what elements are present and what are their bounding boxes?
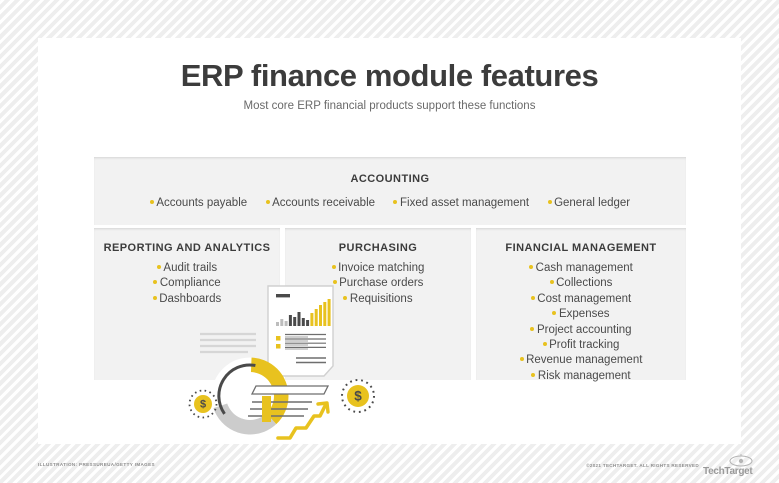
page-title: ERP finance module features: [38, 58, 741, 94]
page-subtitle: Most core ERP financial products support…: [38, 100, 741, 112]
bullet-icon: [530, 327, 534, 331]
coin-icon-right: $: [342, 380, 374, 412]
list-item-label: Accounts receivable: [272, 197, 375, 209]
ledger-lines: [248, 386, 328, 422]
bullet-icon: [266, 200, 270, 204]
list-item: Revenue management: [476, 353, 686, 368]
list-item-label: Profit tracking: [549, 339, 619, 351]
list-item: Accounts receivable: [266, 196, 375, 211]
techtarget-logo: TechTarget: [703, 455, 759, 477]
list-item: Accounts payable: [150, 196, 247, 211]
section-accounting-list: Accounts payable Accounts receivable Fix…: [94, 193, 686, 211]
section-purchasing-list: Invoice matching Purchase orders Requisi…: [285, 261, 471, 307]
bullet-icon: [153, 280, 157, 284]
bullet-icon: [543, 342, 547, 346]
copyright-notice: ©2021 TECHTARGET. ALL RIGHTS RESERVED: [586, 463, 699, 468]
coin-symbol: $: [354, 388, 362, 403]
list-item: Compliance: [94, 276, 280, 291]
list-item: Audit trails: [94, 261, 280, 276]
bullet-icon: [333, 280, 337, 284]
list-item-label: General ledger: [554, 197, 630, 209]
bullet-icon: [150, 200, 154, 204]
list-item-label: Collections: [556, 277, 612, 289]
list-item-label: Project accounting: [537, 324, 632, 336]
bullet-icon: [332, 265, 336, 269]
section-reporting-and-analytics: REPORTING AND ANALYTICS Audit trails Com…: [94, 228, 280, 380]
section-financial-management: FINANCIAL MANAGEMENT Cash management Col…: [476, 228, 686, 380]
section-accounting-title: ACCOUNTING: [94, 173, 686, 185]
section-financial-list: Cash management Collections Cost managem…: [476, 261, 686, 384]
list-item: Risk management: [476, 369, 686, 384]
list-item-label: Cost management: [537, 293, 631, 305]
list-item: Project accounting: [476, 323, 686, 338]
list-item: Collections: [476, 276, 686, 291]
bullet-icon: [157, 265, 161, 269]
bullet-icon: [531, 296, 535, 300]
growth-arrow-icon: [278, 403, 328, 438]
list-item-label: Revenue management: [526, 354, 642, 366]
bullet-icon: [343, 296, 347, 300]
list-item: Cost management: [476, 292, 686, 307]
section-accounting: ACCOUNTING Accounts payable Accounts rec…: [94, 157, 686, 225]
list-item: Expenses: [476, 307, 686, 322]
list-item-label: Fixed asset management: [400, 197, 529, 209]
list-item: Requisitions: [285, 292, 471, 307]
section-financial-title: FINANCIAL MANAGEMENT: [476, 242, 686, 254]
content-card: ERP finance module features Most core ER…: [38, 38, 741, 444]
illustration-credit: ILLUSTRATION: PRESSUREUA/GETTY IMAGES: [38, 462, 155, 467]
list-item-label: Risk management: [538, 370, 631, 382]
techtarget-wordmark: TechTarget: [703, 466, 752, 477]
list-item: Purchase orders: [285, 276, 471, 291]
bullet-icon: [552, 311, 556, 315]
list-item-label: Invoice matching: [338, 262, 424, 274]
list-item-label: Cash management: [536, 262, 633, 274]
list-item: Cash management: [476, 261, 686, 276]
section-purchasing: PURCHASING Invoice matching Purchase ord…: [285, 228, 471, 380]
list-item-label: Audit trails: [163, 262, 217, 274]
coin-icon-left: $: [190, 391, 217, 418]
section-reporting-list: Audit trails Compliance Dashboards: [94, 261, 280, 307]
list-item: Fixed asset management: [393, 196, 529, 211]
list-item-label: Compliance: [160, 277, 221, 289]
list-item-label: Purchase orders: [339, 277, 423, 289]
list-item-label: Dashboards: [159, 293, 221, 305]
coin-symbol: $: [200, 399, 206, 411]
list-item: Profit tracking: [476, 338, 686, 353]
list-item-label: Expenses: [559, 308, 610, 320]
bullet-icon: [531, 373, 535, 377]
list-item: Invoice matching: [285, 261, 471, 276]
bullet-icon: [548, 200, 552, 204]
list-item-label: Requisitions: [350, 293, 413, 305]
bullet-icon: [550, 280, 554, 284]
list-item: Dashboards: [94, 292, 280, 307]
section-reporting-title: REPORTING AND ANALYTICS: [94, 242, 280, 254]
chart-bar: [280, 319, 283, 326]
bullet-icon: [153, 296, 157, 300]
list-item-label: Accounts payable: [156, 197, 247, 209]
bullet-icon: [393, 200, 397, 204]
bullet-icon: [520, 357, 524, 361]
bullet-icon: [529, 265, 533, 269]
list-item: General ledger: [548, 196, 631, 211]
section-purchasing-title: PURCHASING: [285, 242, 471, 254]
infographic-stage: ERP finance module features Most core ER…: [0, 0, 779, 483]
